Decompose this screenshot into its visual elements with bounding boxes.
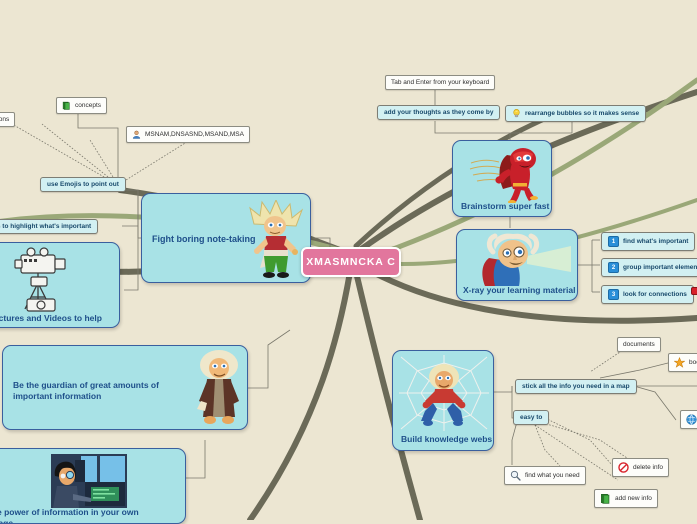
- node-add-new-info-label: add new info: [615, 495, 652, 502]
- card-pictures-videos-caption: bring Pictures and Videos to help you: [0, 313, 119, 328]
- node-delete-info[interactable]: delete info: [612, 458, 669, 477]
- node-use-colours-label: colours to highlight what's important: [0, 223, 91, 230]
- node-tab-enter[interactable]: Tab and Enter from your keyboard: [385, 75, 495, 90]
- sage-guardian-image: [195, 349, 243, 427]
- node-share[interactable]: share: [680, 410, 697, 429]
- node-find-what-you-need[interactable]: find what you need: [504, 466, 586, 485]
- node-stick-info-map[interactable]: stick all the info you need in a map: [515, 379, 637, 394]
- node-easy-to-label: easy to: [520, 414, 542, 421]
- node-documents[interactable]: documents: [617, 337, 661, 352]
- card-knowledge-webs-caption: Build knowledge webs: [401, 434, 492, 445]
- red-superhero-running-image: [469, 145, 549, 203]
- lightbulb-icon: [512, 109, 521, 118]
- card-xray-caption: X-ray your learning material: [463, 285, 575, 296]
- node-add-thoughts-label: add your thoughts as they come by: [384, 109, 493, 116]
- node-people-list[interactable]: MSNAM,DNSASND,MSAND,MSA: [126, 126, 250, 143]
- card-guardian-caption: Be the guardian of great amounts of impo…: [13, 380, 173, 401]
- node-documents-label: documents: [623, 341, 655, 348]
- node-concepts[interactable]: concepts: [56, 97, 107, 114]
- node-step-find-important-label: find what's important: [623, 238, 688, 245]
- central-node[interactable]: XMASMNCKA C: [301, 247, 401, 277]
- node-step-group-elements-label: group important elements: [623, 264, 697, 271]
- card-xray[interactable]: X-ray your learning material: [456, 229, 578, 301]
- no-entry-icon: [618, 462, 629, 473]
- card-brainstorm-caption: Brainstorm super fast: [461, 201, 549, 212]
- globe-icon: [686, 414, 697, 425]
- number-badge-1: 1: [608, 236, 619, 247]
- node-tab-enter-label: Tab and Enter from your keyboard: [391, 79, 489, 86]
- node-step-look-connections-label: look for connections: [623, 291, 687, 298]
- card-fight-boring-caption: Fight boring note-taking: [152, 234, 255, 245]
- node-definitions[interactable]: definitions: [0, 112, 15, 127]
- node-definitions-label: definitions: [0, 116, 9, 123]
- central-node-label: XMASMNCKA C: [306, 256, 395, 268]
- green-book-icon: [62, 101, 71, 110]
- spider-hero-on-web-image: [399, 355, 489, 431]
- node-bookmarks[interactable]: bookmarks: [668, 353, 697, 372]
- hacker-at-monitors-image: [51, 454, 127, 508]
- user-icon: [132, 130, 141, 139]
- card-knowledge-webs[interactable]: Build knowledge webs: [392, 350, 494, 451]
- number-badge-2: 2: [608, 262, 619, 273]
- node-add-thoughts[interactable]: add your thoughts as they come by: [377, 105, 500, 120]
- node-easy-to[interactable]: easy to: [513, 410, 549, 425]
- node-step-find-important[interactable]: 1 find what's important: [601, 232, 695, 251]
- node-rearrange-bubbles-label: rearrange bubbles so it makes sense: [525, 110, 639, 117]
- node-use-emojis[interactable]: use Emojis to point out: [40, 177, 126, 192]
- mindmap-canvas[interactable]: Tab and Enter from your keyboard add you…: [0, 0, 697, 520]
- node-add-new-info[interactable]: add new info: [594, 489, 658, 508]
- green-book-icon: [600, 493, 611, 504]
- star-icon: [674, 357, 685, 368]
- card-pictures-videos[interactable]: bring Pictures and Videos to help you: [0, 242, 120, 328]
- node-use-emojis-label: use Emojis to point out: [47, 181, 119, 188]
- node-step-group-elements[interactable]: 2 group important elements: [601, 258, 697, 277]
- card-guardian[interactable]: Be the guardian of great amounts of impo…: [2, 345, 248, 430]
- connection-marker-badge[interactable]: [691, 287, 697, 295]
- node-find-what-you-need-label: find what you need: [525, 472, 580, 479]
- node-bookmarks-label: bookmarks: [689, 359, 697, 366]
- node-concepts-label: concepts: [75, 102, 101, 109]
- node-stick-info-map-label: stick all the info you need in a map: [522, 383, 630, 390]
- node-rearrange-bubbles[interactable]: rearrange bubbles so it makes sense: [505, 105, 646, 122]
- card-power-of-information[interactable]: Use the power of information in your own…: [0, 448, 186, 524]
- number-badge-3: 3: [608, 289, 619, 300]
- card-fight-boring[interactable]: Fight boring note-taking: [141, 193, 311, 283]
- node-use-colours[interactable]: colours to highlight what's important: [0, 219, 98, 234]
- magnifier-icon: [510, 470, 521, 481]
- card-power-of-information-caption: Use the power of information in your own…: [0, 507, 176, 524]
- camera-tripod-image: [11, 247, 91, 313]
- node-delete-info-label: delete info: [633, 464, 663, 471]
- node-step-look-connections[interactable]: 3 look for connections: [601, 285, 694, 304]
- node-people-list-label: MSNAM,DNSASND,MSAND,MSA: [145, 131, 244, 138]
- xray-vision-hero-image: [471, 232, 575, 286]
- card-brainstorm[interactable]: Brainstorm super fast: [452, 140, 552, 217]
